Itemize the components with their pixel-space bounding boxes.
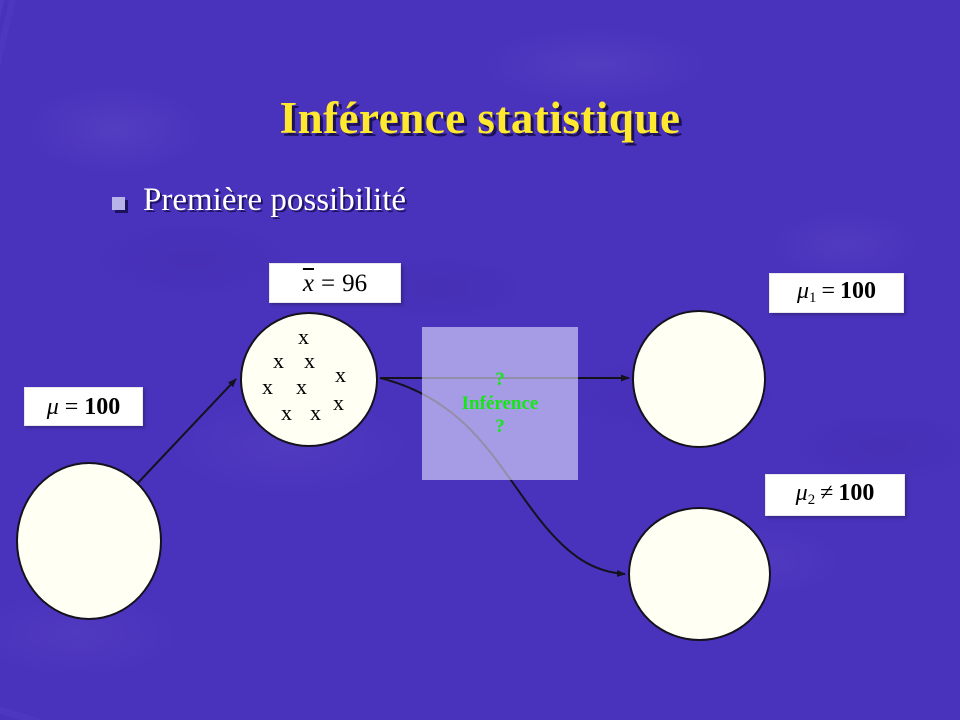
inference-question-bottom: ? (495, 416, 505, 438)
sample-mean-value: 96 (342, 270, 367, 297)
population-mu-value: 100 (84, 394, 120, 420)
inference-label: Inférence (462, 393, 539, 415)
sample-x-mark: x (273, 350, 284, 372)
population-circle (16, 462, 162, 620)
population-mu-variable: μ (47, 394, 59, 420)
mu-one-variable: μ (797, 278, 809, 304)
sample-x-mark: x (262, 376, 273, 398)
population-mu-relation: = (59, 394, 85, 420)
inference-panel: ? Inférence ? (422, 327, 578, 480)
mu-one-relation: = (816, 278, 840, 304)
slide-canvas: Inférence statistique Première possibili… (0, 0, 960, 720)
bullet-item-label: Première possibilité (143, 182, 406, 219)
mu-two-variable: μ (796, 480, 808, 506)
sample-circle: x x x x x x x x x (240, 312, 378, 447)
mu-two-value: 100 (838, 480, 874, 506)
sample-mean-relation: = (314, 270, 342, 297)
formula-box-population-mu: μ=100 (24, 387, 143, 426)
sample-x-mark: x (298, 326, 309, 348)
hypothesis-circle-2 (628, 507, 771, 641)
bullet-list-item: Première possibilité (112, 182, 406, 219)
sample-x-mark: x (296, 376, 307, 398)
sample-x-mark: x (333, 392, 344, 414)
mu-two-relation: ≠ (815, 480, 838, 506)
formula-box-sample-mean: x=96 (269, 263, 401, 303)
inference-question-top: ? (495, 369, 505, 391)
page-title: Inférence statistique (0, 92, 960, 144)
sample-x-mark: x (310, 402, 321, 424)
sample-x-mark: x (281, 402, 292, 424)
formula-box-mu-one: μ1=100 (769, 273, 904, 313)
mu-one-value: 100 (840, 278, 876, 304)
sample-x-mark: x (304, 350, 315, 372)
hypothesis-circle-1 (632, 310, 766, 448)
square-bullet-icon (112, 197, 125, 210)
sample-mean-variable: x (303, 270, 314, 297)
formula-box-mu-two: μ2≠100 (765, 474, 905, 516)
sample-x-mark: x (335, 364, 346, 386)
